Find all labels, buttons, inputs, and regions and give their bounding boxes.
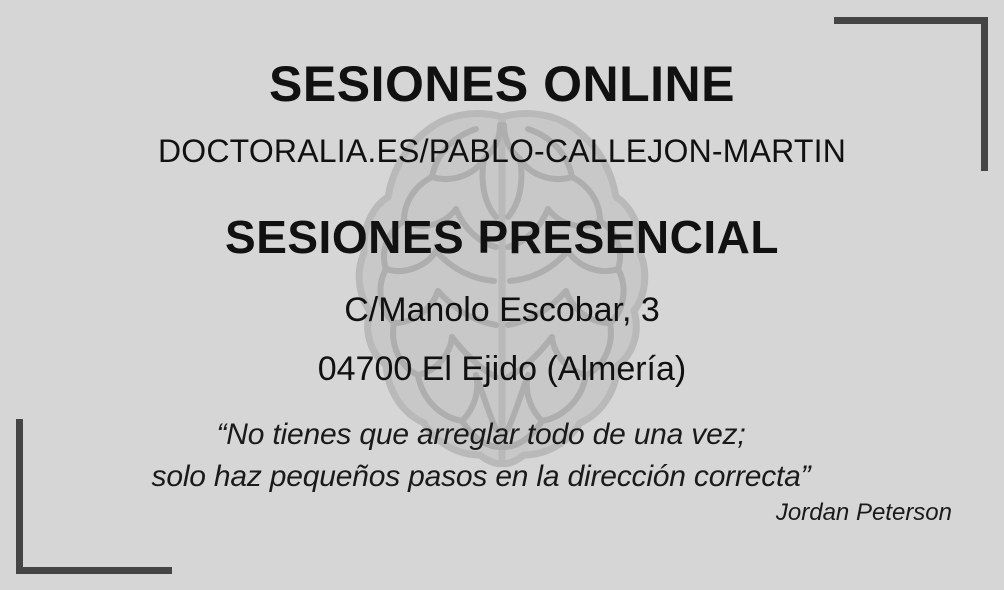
doctoralia-profile-url[interactable]: DOCTORALIA.ES/PABLO-CALLEJON-MARTIN [0,132,1004,170]
quote-author: Jordan Peterson [0,498,952,528]
online-sessions-heading: SESIONES ONLINE [0,56,1004,112]
quote-line-1: “No tienes que arreglar todo de una vez; [0,414,962,456]
card-content: SESIONES ONLINE DOCTORALIA.ES/PABLO-CALL… [0,0,1004,590]
address-street-line: C/Manolo Escobar, 3 [0,289,1004,331]
business-card: SESIONES ONLINE DOCTORALIA.ES/PABLO-CALL… [0,0,1004,590]
in-person-sessions-heading: SESIONES PRESENCIAL [0,210,1004,264]
quote-block: “No tienes que arreglar todo de una vez;… [0,414,962,498]
quote-line-2: solo haz pequeños pasos en la dirección … [0,456,962,498]
address-city-line: 04700 El Ejido (Almería) [0,348,1004,390]
